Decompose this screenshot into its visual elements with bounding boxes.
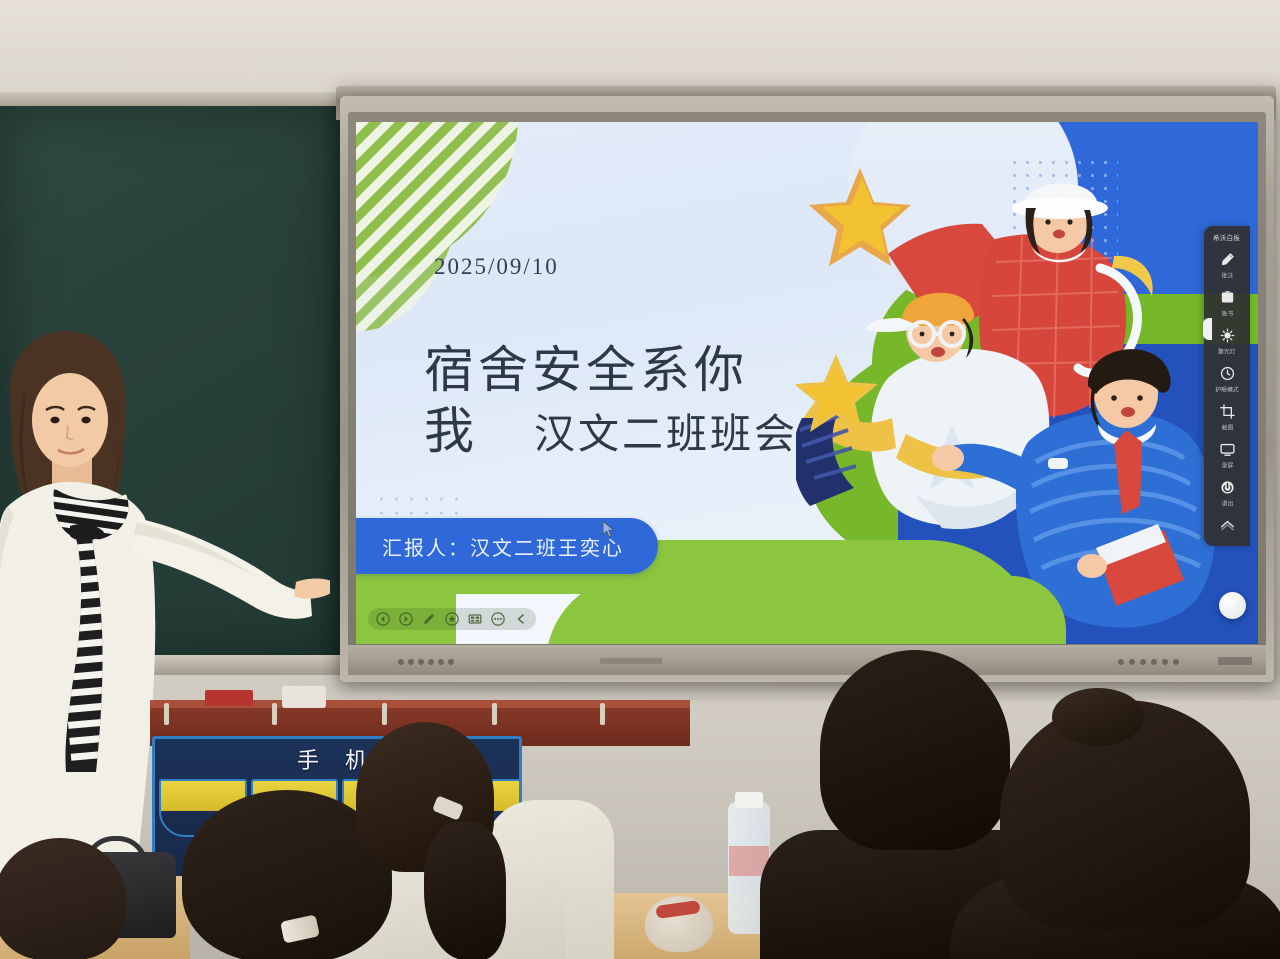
side-tool-screenshot[interactable]: 截图 — [1204, 403, 1250, 432]
timer-icon — [1219, 365, 1236, 382]
white-box-on-cabinet — [282, 686, 326, 708]
smartboard-buttons-right[interactable] — [1118, 658, 1196, 665]
slide-grid-icon[interactable] — [468, 612, 482, 626]
student-seated-back-5 — [820, 650, 1010, 850]
side-tool-record-label: 录屏 — [1221, 461, 1233, 470]
student-ponytail — [424, 822, 506, 959]
slide-title-line2: 我 — [424, 401, 478, 462]
red-box-on-cabinet — [205, 690, 253, 706]
green-wave-bottom-2 — [546, 576, 1066, 644]
spotlight-icon — [1219, 327, 1236, 344]
smartboard-brand-logo — [1218, 657, 1252, 665]
smartboard-buttons-left[interactable] — [398, 658, 464, 665]
cabinet-hook — [164, 703, 169, 725]
screen-icon — [1219, 441, 1236, 458]
cabinet-hook — [600, 703, 605, 725]
side-tool-exit-label: 退出 — [1221, 499, 1233, 508]
side-tool-eyecare-label: 护眼模式 — [1215, 385, 1238, 394]
slide-title: 宿舍安全系你 我 汉文二班班会 — [424, 340, 854, 462]
side-tool-eyecare[interactable]: 护眼模式 — [1204, 365, 1250, 394]
cabinet-hook — [382, 703, 387, 725]
bottle-cap — [735, 792, 763, 808]
side-tool-record[interactable]: 录屏 — [1204, 441, 1250, 470]
more-options-icon[interactable] — [491, 612, 505, 626]
screenshot-stage: 2025/09/10 宿舍安全系你 我 汉文二班班会 汇报人：汉文二班王奕心 — [0, 0, 1280, 959]
side-toolbar-title: 希沃白板 — [1214, 233, 1241, 242]
side-tool-annotate-label: 批注 — [1221, 271, 1233, 280]
side-tool-exit[interactable]: 退出 — [1204, 479, 1250, 508]
crop-icon — [1219, 403, 1236, 420]
powerpoint-presenter-toolbar[interactable] — [368, 608, 536, 630]
smartboard-center-label — [600, 658, 662, 664]
slide-date: 2025/09/10 — [434, 254, 559, 280]
mouse-cursor — [602, 520, 616, 543]
floating-home-button[interactable] — [1219, 592, 1246, 619]
chalkboard-top-rail — [0, 92, 346, 106]
student-hair-bun — [1052, 688, 1144, 746]
smartboard-screen[interactable]: 2025/09/10 宿舍安全系你 我 汉文二班班会 汇报人：汉文二班王奕心 — [356, 122, 1258, 644]
side-tool-blackboard[interactable]: 板书 — [1204, 289, 1250, 318]
next-slide-icon[interactable] — [399, 612, 413, 626]
collapse-icon[interactable] — [514, 612, 528, 626]
eraser-icon — [1219, 251, 1236, 268]
smartboard-side-toolbar[interactable]: 希沃白板 批注 板书 聚光灯 护眼模式 截图 — [1204, 226, 1250, 546]
slide-title-line1: 宿舍安全系你 — [424, 340, 854, 401]
side-tool-annotate[interactable]: 批注 — [1204, 251, 1250, 280]
pen-annotate-icon[interactable] — [422, 612, 436, 626]
power-icon — [1219, 479, 1236, 496]
side-tool-spotlight-label: 聚光灯 — [1218, 347, 1236, 356]
slide-subtitle: 汉文二班班会 — [534, 409, 798, 459]
cabinet-hook — [492, 703, 497, 725]
previous-slide-icon[interactable] — [376, 612, 390, 626]
side-tool-screenshot-label: 截图 — [1221, 423, 1233, 432]
side-toolbar-collapse-icon[interactable] — [1219, 518, 1236, 536]
laser-pointer-icon[interactable] — [445, 612, 459, 626]
side-toolbar-handle[interactable] — [1203, 318, 1212, 340]
side-tool-blackboard-label: 板书 — [1221, 309, 1233, 318]
clipboard-icon — [1219, 289, 1236, 306]
cabinet-hook — [272, 703, 277, 725]
striped-corner-decoration-2 — [356, 122, 470, 331]
student-seated-back-1 — [0, 838, 126, 959]
